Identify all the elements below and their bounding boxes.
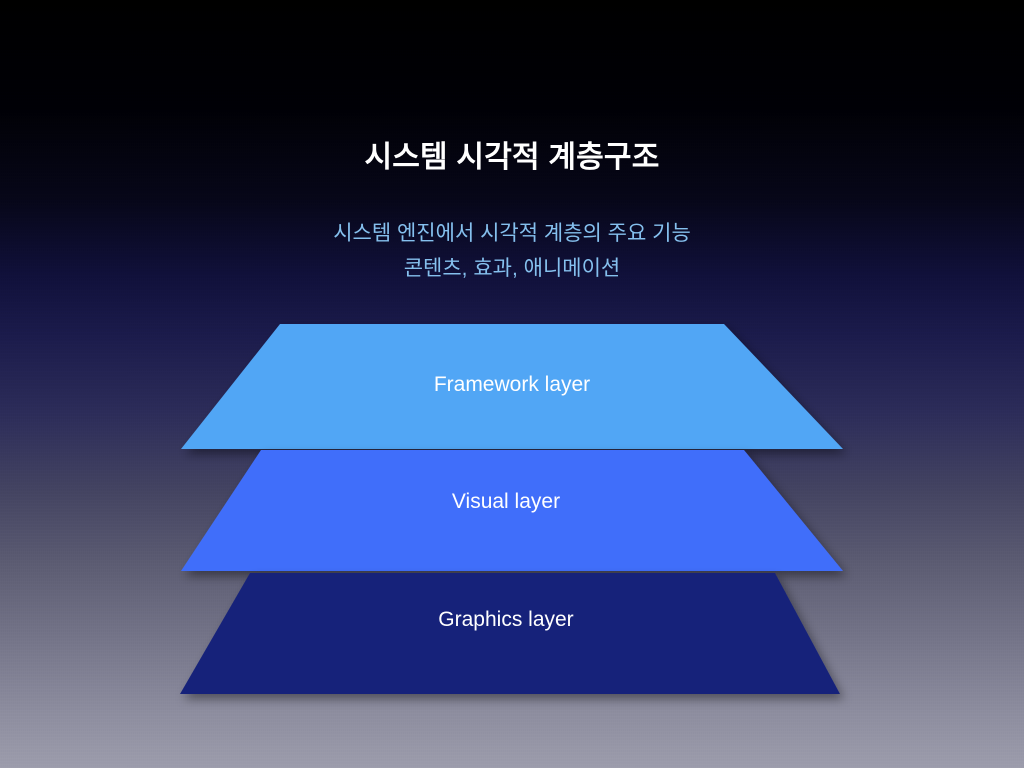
pyramid-label-graphics: Graphics layer [0,607,1018,633]
pyramid-label-visual: Visual layer [0,489,1018,515]
layer-pyramid-diagram: Framework layer Visual layer Graphics la… [0,0,1024,768]
pyramid-layer-graphics[interactable] [180,573,840,694]
pyramid-label-framework: Framework layer [0,372,1024,398]
slide-canvas: 시스템 시각적 계층구조 시스템 엔진에서 시각적 계층의 주요 기능 콘텐츠,… [0,0,1024,768]
